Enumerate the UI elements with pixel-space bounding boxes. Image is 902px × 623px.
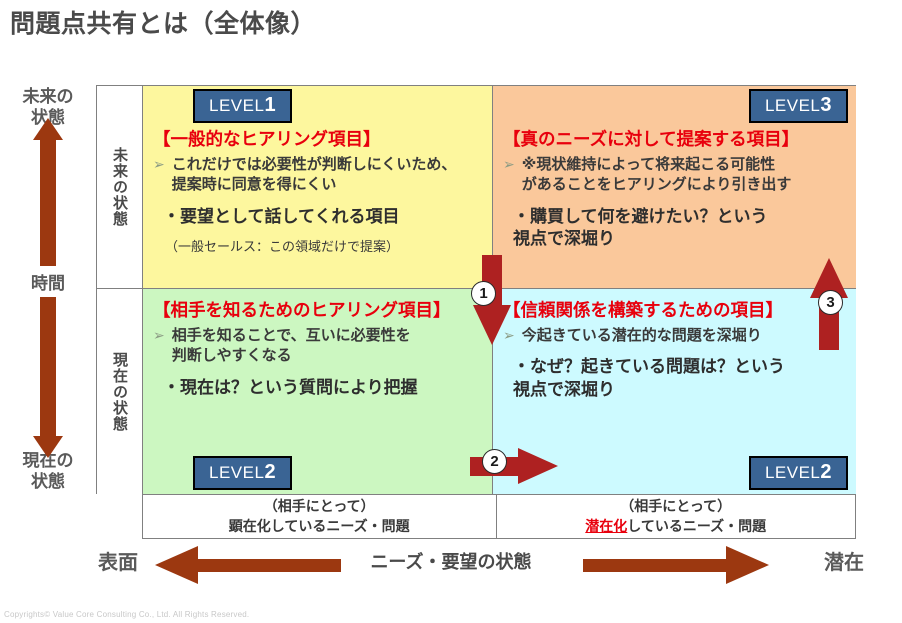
badge-level3-text: LEVEL (765, 96, 820, 115)
quadrant-level1-heading: 【一般的なヒアリング項目】 (153, 126, 482, 151)
quadrant-level2-left-bullet-line1: 相手を知ることで、互いに必要性を (172, 327, 411, 344)
quadrant-level2-right-subpoint: ・なぜ？起きている問題は？という 視点で深堀り (503, 356, 846, 401)
quadrant-level2-right-heading: 【信頼関係を構築するための項目】 (503, 297, 846, 322)
quadrant-level3-bullet-text: ※現状維持によって将来起こる可能性 があることをヒアリングにより引き出す (522, 155, 792, 196)
row-header-present-label: 現在の状態 (109, 352, 130, 432)
quadrant-level1-bullet: ➢ これだけでは必要性が判断しにくいため、 提案時に同意を得にくい (153, 155, 482, 196)
quadrant-level2-right-subpoint-line2: 視点で深堀り (513, 380, 615, 399)
row-header-present: 現在の状態 (97, 289, 143, 495)
badge-level1-number: 1 (264, 94, 276, 116)
row-header-future: 未来の状態 (97, 86, 143, 289)
flow-arrow-3-number: 3 (818, 290, 843, 315)
column-header-latent-line2: 潜在化しているニーズ・問題 (585, 517, 766, 537)
quadrant-level2-left-body: 【相手を知るためのヒアリング項目】 ➢ 相手を知ることで、互いに必要性を 判断し… (153, 297, 482, 399)
badge-level2-right: LEVEL2 (749, 456, 848, 490)
quadrant-level2-left[interactable]: 【相手を知るためのヒアリング項目】 ➢ 相手を知ることで、互いに必要性を 判断し… (143, 289, 493, 495)
quadrant-level3-subpoint-line1: ・購買して何を避けたい？という (513, 207, 768, 226)
quadrant-level2-left-subpoint: ・現在は？という質問により把握 (153, 377, 482, 399)
column-headers: （相手にとって） 顕在化しているニーズ・問題 （相手にとって） 潜在化しているニ… (142, 494, 856, 539)
quadrant-level3[interactable]: LEVEL3 【真のニーズに対して提案する項目】 ➢ ※現状維持によって将来起こ… (493, 86, 856, 289)
badge-level2-left-text: LEVEL (209, 463, 264, 482)
column-header-latent-keyword: 潜在化 (585, 518, 627, 534)
column-header-latent-line1: （相手にとって） (620, 497, 731, 517)
time-axis-bottom-label-line2: 状態 (31, 472, 65, 491)
badge-level2-left: LEVEL2 (193, 456, 292, 490)
time-axis-label: 時間 (0, 266, 96, 297)
quadrant-level2-left-bullet-line2: 判断しやすくなる (172, 347, 292, 364)
time-axis-down-arrowhead-icon (33, 436, 63, 458)
column-header-latent-rest: しているニーズ・問題 (627, 518, 766, 534)
quadrant-level2-right-bullet-line1: 今起きている潜在的な問題を深堀り (522, 326, 762, 346)
badge-level3: LEVEL3 (749, 89, 848, 123)
arrow-bullet-icon: ➢ (153, 326, 165, 346)
column-header-surface-line1: （相手にとって） (264, 497, 375, 517)
quadrant-level3-subpoint: ・購買して何を避けたい？という 視点で深堀り (503, 206, 846, 251)
quadrant-level1-bullet-text: これだけでは必要性が判断しにくいため、 提案時に同意を得にくい (172, 155, 457, 196)
quadrant-level1-note: （一般セールス：この領域だけで提案） (153, 236, 482, 255)
quadrant-level2-right-subpoint-line1: ・なぜ？起きている問題は？という (513, 357, 785, 376)
badge-level2-right-text: LEVEL (765, 463, 820, 482)
column-header-latent: （相手にとって） 潜在化しているニーズ・問題 (497, 495, 856, 538)
column-header-surface-line2: 顕在化しているニーズ・問題 (229, 517, 410, 537)
time-axis: 未来の 状態 時間 現在の 状態 (0, 84, 96, 494)
badge-level2-right-number: 2 (820, 461, 832, 483)
quadrant-level2-left-bullet-text: 相手を知ることで、互いに必要性を 判断しやすくなる (172, 326, 411, 367)
needs-axis: 表面 ニーズ・要望の状態 潜在 (0, 540, 902, 586)
quadrant-level3-bullet-line1: ※現状維持によって将来起こる可能性 (522, 156, 775, 173)
quadrant-level1-subpoint: ・要望として話してくれる項目 (153, 206, 482, 228)
quadrant-level3-subpoint-line2: 視点で深堀り (513, 229, 615, 248)
quadrant-level1-bullet-line1: これだけでは必要性が判断しにくいため、 (172, 156, 457, 173)
badge-level2-left-number: 2 (264, 461, 276, 483)
quadrant-level3-bullet-line2: があることをヒアリングにより引き出す (522, 176, 792, 193)
column-header-surface: （相手にとって） 顕在化しているニーズ・問題 (143, 495, 497, 538)
quadrant-level1[interactable]: LEVEL1 【一般的なヒアリング項目】 ➢ これだけでは必要性が判断しにくいた… (143, 86, 493, 289)
quadrant-level3-bullet: ➢ ※現状維持によって将来起こる可能性 があることをヒアリングにより引き出す (503, 155, 846, 196)
row-header-future-label: 未来の状態 (109, 147, 130, 227)
flow-arrow-2-number: 2 (482, 449, 507, 474)
page-title: 問題点共有とは（全体像） (10, 4, 316, 40)
quadrant-level3-heading: 【真のニーズに対して提案する項目】 (503, 126, 846, 151)
quadrant-level1-body: 【一般的なヒアリング項目】 ➢ これだけでは必要性が判断しにくいため、 提案時に… (153, 126, 482, 255)
quadrant-level2-left-heading: 【相手を知るためのヒアリング項目】 (153, 297, 482, 322)
arrow-bullet-icon: ➢ (503, 155, 515, 175)
quadrant-level3-body: 【真のニーズに対して提案する項目】 ➢ ※現状維持によって将来起こる可能性 があ… (503, 126, 846, 250)
needs-axis-label: ニーズ・要望の状態 (0, 548, 902, 574)
flow-arrow-1-number: 1 (471, 281, 496, 306)
arrow-bullet-icon: ➢ (153, 155, 165, 175)
time-axis-top-label-line1: 未来の (23, 87, 74, 106)
column-header-surface-rest: しているニーズ・問題 (271, 518, 410, 534)
badge-level1: LEVEL1 (193, 89, 292, 123)
flow-arrow-2-head (518, 448, 558, 484)
copyright-footer: Copyrights© Value Core Consulting Co., L… (4, 610, 249, 619)
quadrant-level2-right-body: 【信頼関係を構築するための項目】 ➢ 今起きている潜在的な問題を深堀り ・なぜ？… (503, 297, 846, 401)
flow-arrow-1-head (473, 305, 511, 345)
column-header-surface-keyword: 顕在化 (229, 518, 271, 534)
badge-level3-number: 3 (820, 94, 832, 116)
quadrant-level2-left-bullet: ➢ 相手を知ることで、互いに必要性を 判断しやすくなる (153, 326, 482, 367)
quadrant-level1-bullet-line2: 提案時に同意を得にくい (172, 176, 337, 193)
badge-level1-text: LEVEL (209, 96, 264, 115)
quadrant-level2-right-bullet: ➢ 今起きている潜在的な問題を深堀り (503, 326, 846, 346)
